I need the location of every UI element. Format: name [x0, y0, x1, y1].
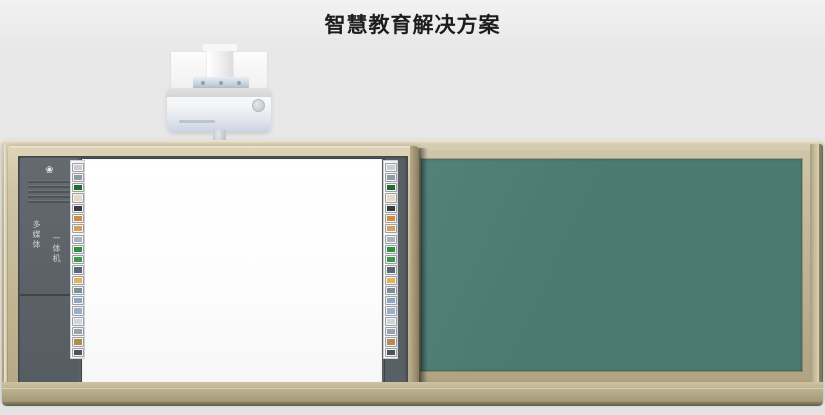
projector-top-strip: [167, 88, 271, 97]
chalk-tray-highlight: [2, 388, 823, 389]
exit-icon[interactable]: [72, 348, 84, 357]
projector-assembly: [163, 44, 275, 146]
chalkboard-icon[interactable]: [385, 183, 397, 192]
save-icon[interactable]: [385, 337, 397, 346]
eraser-icon[interactable]: [385, 224, 397, 233]
projector-mounting-arm: [207, 46, 233, 80]
text-box-icon[interactable]: [72, 235, 84, 244]
bracket-screw-center-icon: [219, 81, 223, 85]
text-box-icon[interactable]: [385, 235, 397, 244]
speaker-slat: [28, 200, 70, 203]
line-icon[interactable]: [72, 255, 84, 264]
zoom-in-icon[interactable]: [72, 296, 84, 305]
chalkboard-frame: [412, 150, 811, 380]
highlighter-icon[interactable]: [385, 214, 397, 223]
highlighter-icon[interactable]: [72, 214, 84, 223]
shapes-icon[interactable]: [385, 245, 397, 254]
interactive-whiteboard-surface[interactable]: [82, 159, 382, 383]
zoom-in-icon[interactable]: [385, 296, 397, 305]
marker-icon[interactable]: [385, 204, 397, 213]
pen-icon[interactable]: [72, 193, 84, 202]
cursor-icon[interactable]: [385, 317, 397, 326]
speaker-slat: [28, 190, 70, 193]
grid-icon[interactable]: [385, 286, 397, 295]
ruler-icon[interactable]: [72, 276, 84, 285]
zoom-out-icon[interactable]: [72, 306, 84, 315]
slider-right-edge: [410, 146, 419, 396]
frame-top-highlight: [2, 140, 823, 144]
save-icon[interactable]: [72, 337, 84, 346]
screenshot-stage: 智慧教育解决方案: [0, 0, 825, 415]
speaker-slat: [28, 185, 70, 188]
line-icon[interactable]: [385, 255, 397, 264]
ruler-icon[interactable]: [385, 276, 397, 285]
slider-top-highlight: [8, 146, 419, 149]
brand-logo-icon: ❀: [44, 165, 55, 176]
chalk-tray-shadow: [2, 402, 823, 406]
speaker-grille: [28, 180, 70, 202]
projector-lens-icon: [252, 99, 265, 112]
camera-icon[interactable]: [72, 173, 84, 182]
projector-arm-cap: [203, 44, 237, 51]
sliding-whiteboard-panel[interactable]: ❀ 多媒体 一体机: [8, 146, 419, 396]
frame-right-edge: [819, 144, 823, 398]
screen-icon[interactable]: [72, 163, 84, 172]
grid-icon[interactable]: [72, 286, 84, 295]
camera-icon[interactable]: [385, 173, 397, 182]
chalkboard-icon[interactable]: [72, 183, 84, 192]
shapes-icon[interactable]: [72, 245, 84, 254]
window-icon[interactable]: [72, 327, 84, 336]
projector-vent: [179, 120, 215, 123]
multimedia-all-in-one-blackboard: ❀ 多媒体 一体机: [2, 140, 823, 406]
page-title: 智慧教育解决方案: [0, 9, 825, 39]
marker-icon[interactable]: [72, 204, 84, 213]
exit-icon[interactable]: [385, 348, 397, 357]
window-icon[interactable]: [385, 327, 397, 336]
cursor-icon[interactable]: [72, 317, 84, 326]
toolbar-left[interactable]: [70, 160, 85, 359]
bracket-screw-right-icon: [237, 81, 241, 85]
pen-icon[interactable]: [385, 193, 397, 202]
speaker-slat: [28, 180, 70, 183]
speaker-slat: [28, 195, 70, 198]
chalkboard-inner-shadow: [420, 158, 803, 372]
keyboard-icon[interactable]: [72, 265, 84, 274]
eraser-icon[interactable]: [72, 224, 84, 233]
zoom-out-icon[interactable]: [385, 306, 397, 315]
panel-seam-shadow: [419, 148, 428, 396]
label-multimedia: 多媒体: [32, 220, 40, 250]
keyboard-icon[interactable]: [385, 265, 397, 274]
frame-left-highlight: [4, 144, 7, 396]
screen-icon[interactable]: [385, 163, 397, 172]
bracket-screw-left-icon: [201, 81, 205, 85]
toolbar-right[interactable]: [383, 160, 398, 359]
label-all-in-one: 一体机: [52, 234, 60, 264]
